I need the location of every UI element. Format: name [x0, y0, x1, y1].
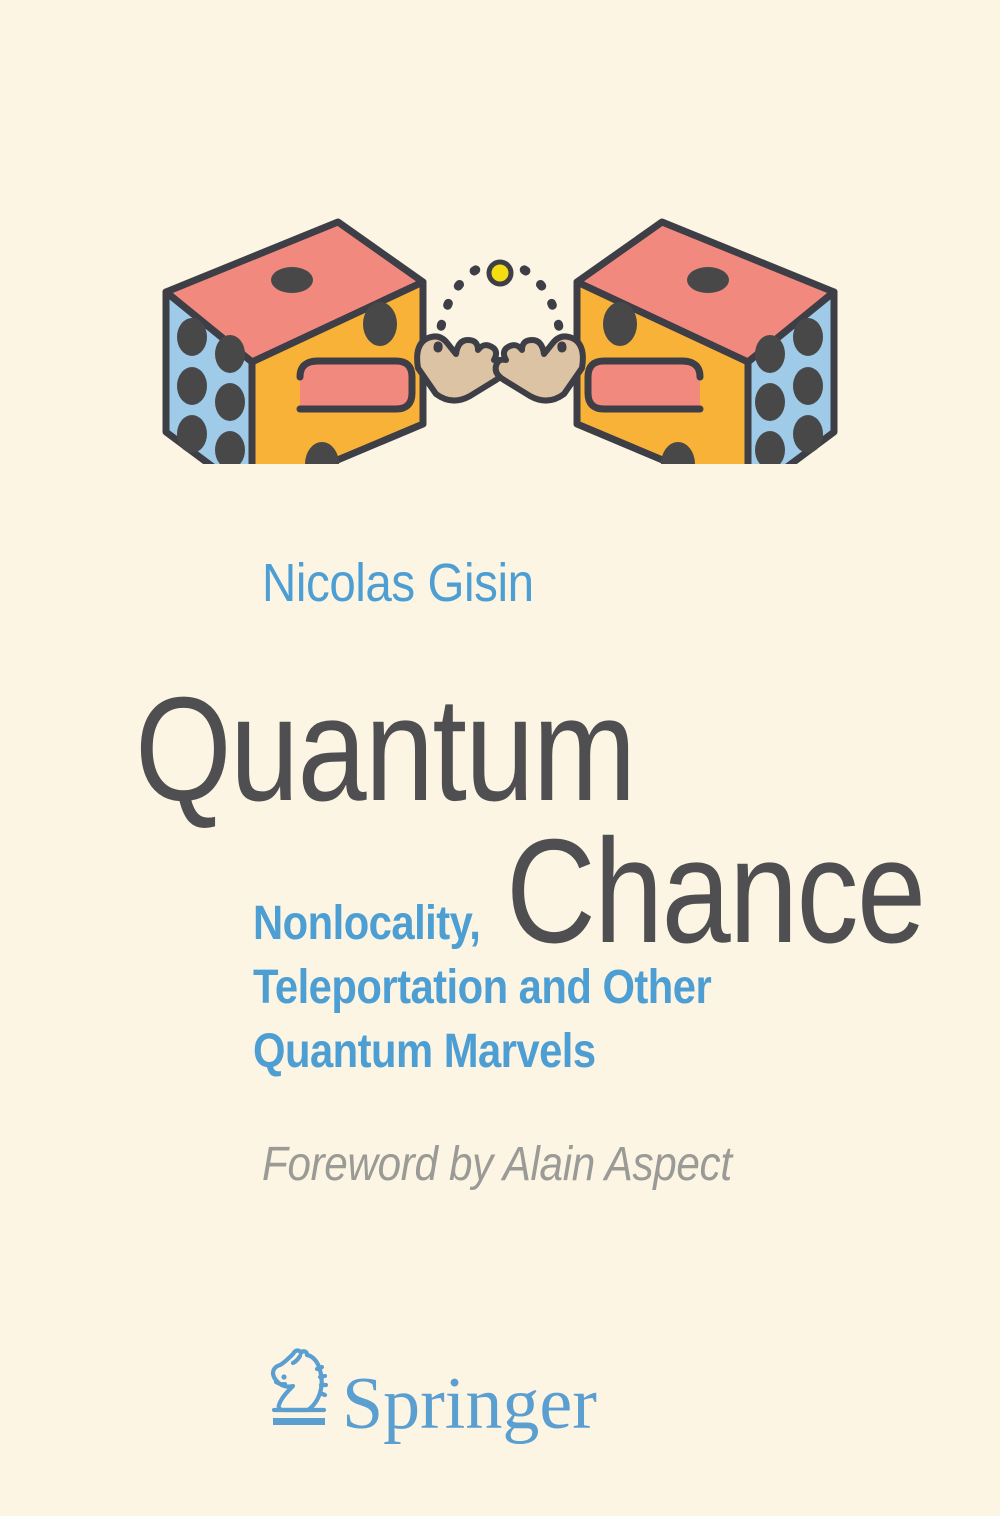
left-die-hand: [417, 336, 504, 400]
foreword-credit: Foreword by Alain Aspect: [262, 1137, 732, 1192]
right-die-hand: [496, 336, 583, 400]
springer-logo-bar: [273, 1418, 325, 1425]
right-die-top-pip: [687, 267, 729, 293]
cover-illustration: [0, 196, 1000, 464]
left-die: [166, 222, 504, 464]
author-name: Nicolas Gisin: [262, 552, 534, 614]
quantum-particle-icon: [489, 262, 511, 284]
right-die: [496, 222, 834, 464]
subtitle-line-2: Teleportation and Other: [253, 956, 705, 1020]
book-title-line-1: Quantum: [135, 676, 635, 824]
publisher-logo: Springer: [262, 1346, 597, 1439]
dotted-arc-right: [511, 264, 562, 348]
book-subtitle: Nonlocality, Teleportation and Other Qua…: [253, 892, 773, 1084]
springer-wordmark: Springer: [342, 1369, 597, 1439]
right-die-arm: [588, 361, 700, 409]
left-die-arm: [300, 361, 412, 409]
left-die-top-pip: [271, 267, 313, 293]
book-cover: Nicolas Gisin Quantum Chance Nonlocality…: [0, 0, 1000, 1516]
subtitle-line-3: Quantum Marvels: [253, 1020, 705, 1084]
subtitle-line-1: Nonlocality,: [253, 892, 705, 956]
springer-knight-icon: [262, 1346, 332, 1439]
dotted-arc-left: [438, 264, 489, 348]
